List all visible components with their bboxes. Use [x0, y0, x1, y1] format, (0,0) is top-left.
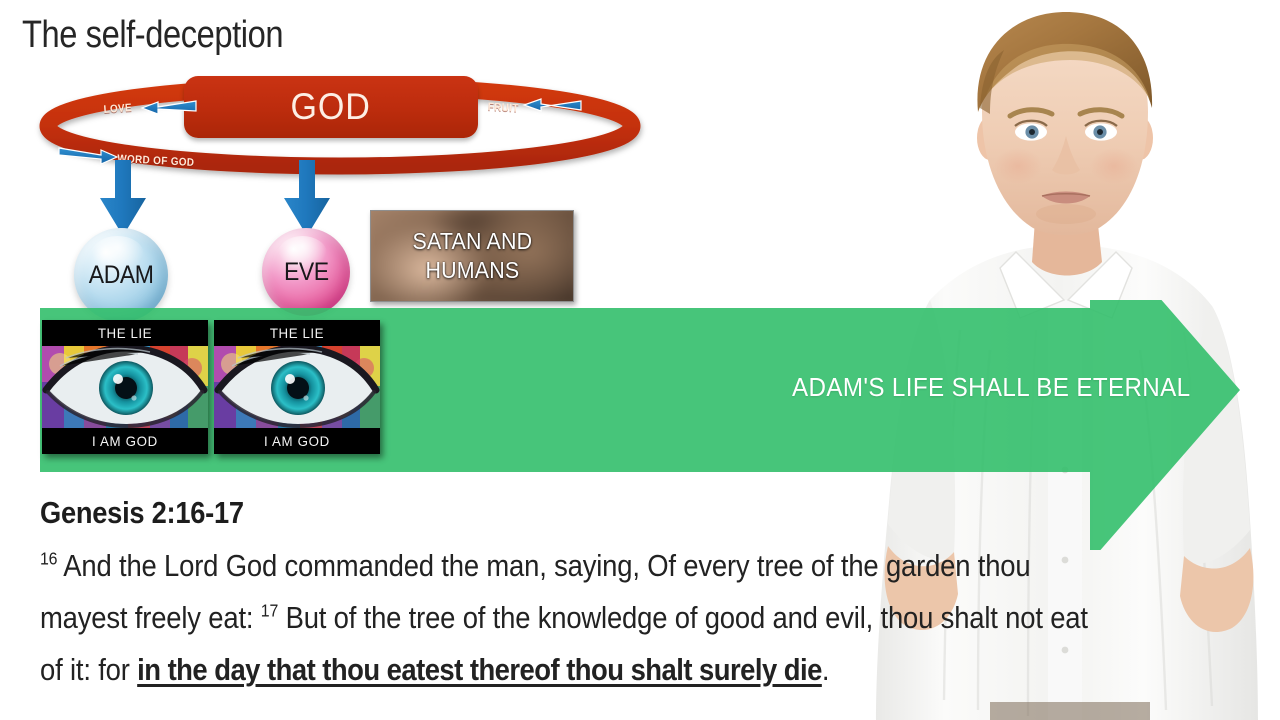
scripture-line-2-pre: mayest freely eat: [40, 600, 261, 635]
god-label: GOD [291, 86, 371, 128]
scripture-line-1-text: And the Lord God commanded the man, sayi… [57, 548, 1030, 583]
ring-label-fruit: FRUIT [487, 101, 519, 115]
satan-and-humans-card: SATAN AND HUMANS [370, 210, 574, 302]
verse-number-16: 16 [40, 549, 57, 569]
lie-card: THE LIE [214, 320, 380, 454]
scripture-line-3: of it: for in the day that thou eatest t… [40, 644, 1130, 696]
eye-image [42, 346, 208, 428]
scripture-heading: Genesis 2:16-17 [40, 495, 244, 531]
lie-card-top-caption: THE LIE [218, 320, 376, 346]
scripture-emphasis: in the day that thou eatest thereof thou… [137, 652, 822, 687]
adam-label: ADAM [89, 261, 154, 290]
left-arrow-icon [521, 96, 583, 116]
scripture-body: 16 And the Lord God commanded the man, s… [40, 540, 1272, 696]
lie-card-top-caption: THE LIE [46, 320, 204, 346]
left-arrow-icon [140, 98, 198, 118]
scripture-line-2-text: But of the tree of the knowledge of good… [278, 600, 1088, 635]
satan-card-line-2: HUMANS [412, 256, 532, 285]
eternal-life-label: ADAM'S LIFE SHALL BE ETERNAL [792, 372, 1190, 403]
god-node: GOD [184, 76, 478, 138]
scripture-line-2: mayest freely eat: 17 But of the tree of… [40, 592, 1130, 644]
page-title: The self-deception [22, 14, 283, 57]
eye-image [214, 346, 380, 428]
scripture-line-3-post: . [822, 652, 829, 687]
lie-card: THE LIE [42, 320, 208, 454]
satan-card-line-1: SATAN AND [412, 227, 532, 256]
ring-label-love: LOVE [103, 102, 132, 116]
scripture-line-3-pre: of it: for [40, 652, 137, 687]
satan-card-text: SATAN AND HUMANS [412, 227, 532, 285]
verse-number-17: 17 [261, 601, 278, 621]
scripture-line-1: 16 And the Lord God commanded the man, s… [40, 540, 1130, 592]
lie-card-bottom-caption: I AM GOD [46, 428, 204, 454]
slide-canvas: The self-deception GOD LOVE [0, 0, 1280, 720]
eve-label: EVE [284, 258, 329, 287]
lie-card-bottom-caption: I AM GOD [218, 428, 376, 454]
